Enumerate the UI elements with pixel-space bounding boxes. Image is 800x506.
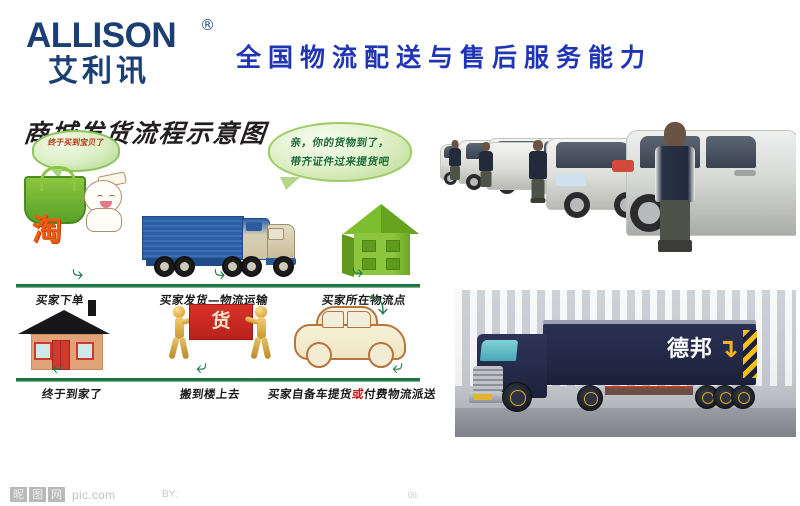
watermark-block-char: 昵 [10,487,27,502]
flow-arrow-left-icon: ⤶ [52,356,63,376]
person-head [452,140,459,148]
house-window-icon [362,258,376,270]
baby-body-icon [86,208,122,232]
flow-label-arrived-home: 终于到家了 [41,386,103,402]
flow-label-pickup-part: 买家自备车提货 [267,387,353,401]
home-window-icon [34,342,52,360]
person-head [664,122,686,148]
flow-divider-line [16,284,420,288]
road-surface [455,408,796,437]
staff-person [478,142,494,188]
flow-label-delivery-part: 付费物流派送 [363,387,437,401]
shopping-basket-icon: 淘 [24,176,86,224]
truck-wheel [577,385,603,411]
flow-arrow-right-icon: ⤷ [214,262,225,282]
house-window-icon [362,240,376,252]
flow-arrow-down-icon: ⤷ [352,260,363,280]
truck-wheel-icon [154,256,175,277]
fleet-sedan-door-handle [734,170,756,176]
person-shoes [531,198,546,203]
truck-wheel-icon [174,256,195,277]
license-plate [474,394,492,400]
brand-logo-latin: ALLISON [26,18,226,54]
person-torso [479,151,493,171]
person-legs [660,200,690,244]
buyer-car-sketch-icon [292,302,406,370]
person-head [533,140,543,151]
registered-trademark-icon: ® [200,18,215,33]
porter-icon [249,306,275,360]
truck-wheel-icon [241,256,262,277]
truck-door-window-icon [268,228,284,240]
person-torso [449,148,461,166]
brand-logo-chinese: 艾利讯 [26,56,226,88]
person-legs [450,166,460,180]
deppon-brand-mark-icon: ↴ [717,336,739,362]
page-header: ALLISON ® 艾利讯 全国物流配送与售后服务能力 [0,0,800,100]
watermark-block-char: 图 [29,487,46,502]
truck-wheel [502,382,532,412]
cartoon-baby-icon [80,176,132,234]
shipping-flow-diagram: 商城发货流程示意图 终于买到宝贝了 淘 [0,100,440,450]
flow-arrow-left-icon: ⤶ [196,356,207,376]
baby-eye-left-icon [97,195,103,199]
porter-leg-icon [250,337,261,360]
basket-handle-icon [40,166,76,191]
porters-carrying-goods-icon: 货 [165,300,275,370]
speech-bubble-arrival: 亲，你的货物到了， 带齐证件过来提货吧 [268,122,412,182]
brand-logo: ALLISON ® 艾利讯 [26,18,226,86]
buyer-home-icon [22,298,118,370]
watermark-tail: 06 [408,491,417,500]
truck-windshield [480,340,518,361]
watermark-logo-blocks: 昵 图 网 [10,487,65,502]
car-front-window-icon [322,311,344,328]
fleet-suv-door-decal [556,174,586,186]
flow-arrow-down-right-icon: ⤵ [368,296,388,316]
speech-bubble-buyer: 终于买到宝贝了 [32,130,120,172]
watermark-block-char: 网 [48,487,65,502]
person-head [482,142,490,151]
home-roof-icon [18,310,110,334]
watermark-byline: BY: [162,489,178,500]
staff-person [528,140,548,202]
fleet-lead-suv-tire [564,192,590,218]
truck-grille [473,366,503,392]
flow-arrow-left-icon: ⤶ [392,356,403,376]
deppon-brand-text: 德邦 [667,338,713,362]
flow-divider-line [16,378,420,382]
house-window-icon [386,258,400,270]
fleet-sedan-rear-glass [706,136,756,168]
truck-wheel [731,385,755,409]
baby-eye-right-icon [109,195,115,199]
speech-bubble-arrival-line1: 亲，你的货物到了， [269,135,411,150]
porter-leg-icon [168,337,179,360]
deppon-truck-photo: 德邦 ↴ [455,290,796,437]
trailer-underrun-bar [605,386,693,395]
porter-leg-icon [261,337,271,360]
page-title: 全国物流配送与售后服务能力 [236,38,766,74]
flow-arrow-right-icon: ⤷ [72,262,83,282]
taobao-logo-icon: 淘 [32,216,59,246]
vehicle-fleet-photo [440,112,796,267]
staff-person-foreground [654,122,696,254]
truck-sleeper-window-icon [246,222,262,231]
porter-leg-icon [179,337,189,360]
baby-mouth-icon [100,201,112,208]
house-roof-shadow-icon [381,204,419,234]
house-window-icon [386,240,400,252]
person-legs [481,171,492,187]
home-window-icon [76,342,94,360]
person-shoes [658,240,692,252]
car-wheel-icon [368,342,394,368]
stock-site-watermark: 昵 图 网 pic.com BY: 06 [10,486,430,506]
watermark-url: pic.com [72,488,115,502]
fleet-sedan-taillight [612,160,634,172]
car-wheel-icon [306,342,332,368]
truck-wheel-icon [273,256,294,277]
flow-label-pickup-or-delivery: 买家自备车提货或付费物流派送 [267,386,437,402]
truck-trailer-icon [142,216,244,260]
flow-label-carry-upstairs: 搬到楼上去 [179,386,241,402]
person-torso [529,151,547,179]
staff-person [448,140,462,182]
person-legs [532,179,545,199]
person-vest [655,146,695,202]
hazard-stripe-marking [743,330,757,378]
speech-bubble-buyer-text: 终于买到宝贝了 [33,137,119,148]
goods-crate-icon: 货 [189,304,253,340]
speech-bubble-arrival-line2: 带齐证件过来提货吧 [269,154,411,169]
goods-crate-label: 货 [190,310,252,332]
